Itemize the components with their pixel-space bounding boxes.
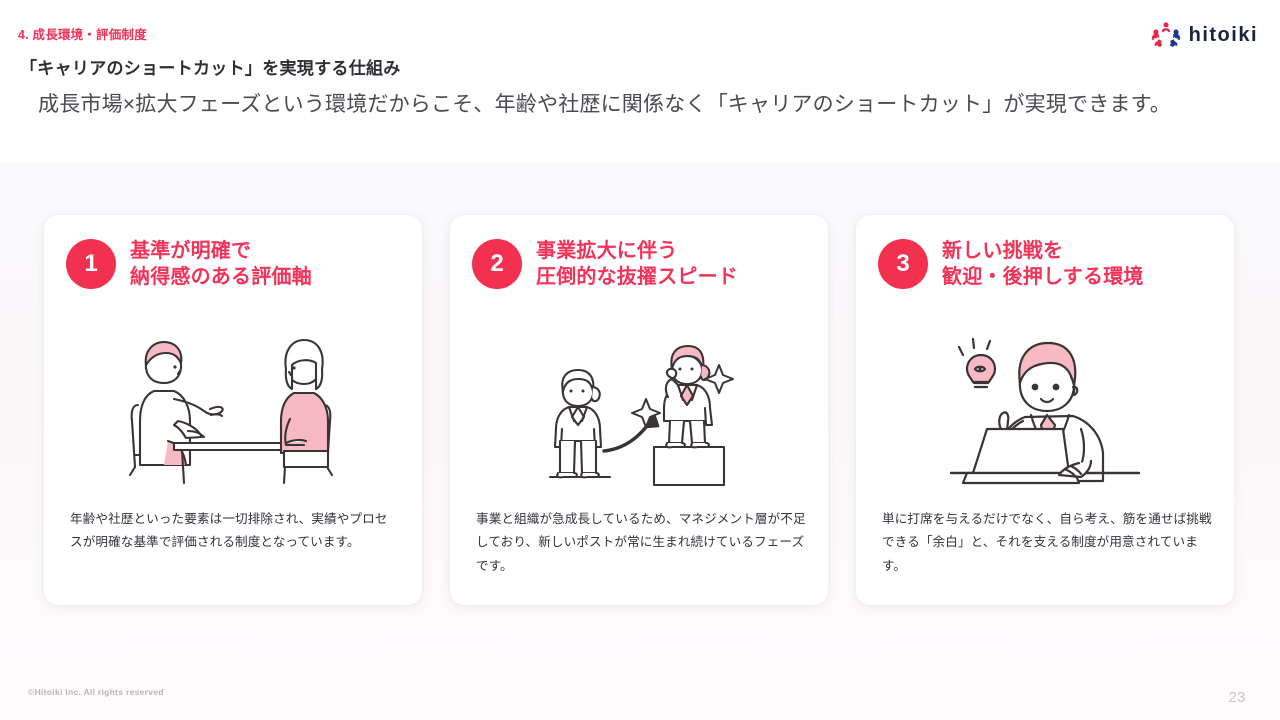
card-3-body: 単に打席を与えるだけでなく、自ら考え、筋を通せば挑戦できる「余白」と、それを支え… (882, 508, 1212, 578)
logo-wordmark: hitoiki (1189, 24, 1258, 47)
card-1-number-badge: 1 (66, 239, 116, 289)
lead-paragraph: 成長市場×拡大フェーズという環境だからこそ、年齢や社歴に関係なく「キャリアのショ… (38, 88, 1266, 122)
slide-header: 4. 成長環境・評価制度 「キャリアのショートカット」を実現する仕組み 成長市場… (0, 0, 1280, 163)
slide: 4. 成長環境・評価制度 「キャリアのショートカット」を実現する仕組み 成長市場… (0, 0, 1280, 720)
card-2-title: 事業拡大に伴う 圧倒的な抜擢スピード (536, 238, 738, 291)
section-label: 4. 成長環境・評価制度 (18, 24, 147, 43)
card-1-illustration (44, 319, 422, 499)
person-promoted-pedestal-arrow-icon (542, 325, 737, 493)
card-3-illustration (856, 319, 1234, 499)
card-1-header: 1 基準が明確で 納得感のある評価軸 (66, 238, 312, 291)
brand-logo: hitoiki (1151, 20, 1258, 50)
people-star-icon (1151, 20, 1181, 50)
card-3-title: 新しい挑戦を 歓迎・後押しする環境 (942, 238, 1144, 291)
card-2-number-badge: 2 (472, 239, 522, 289)
card-1-title: 基準が明確で 納得感のある評価軸 (130, 238, 312, 291)
interview-two-people-table-icon (118, 325, 348, 493)
copyright-notice: ©Hitoiki Inc. All rights reserved (28, 687, 164, 697)
card-2-body: 事業と組織が急成長しているため、マネジメント層が不足しており、新しいポストが常に… (476, 508, 806, 578)
card-3[interactable]: 3 新しい挑戦を 歓迎・後押しする環境 (856, 215, 1234, 605)
slide-body: 1 基準が明確で 納得感のある評価軸 (0, 163, 1280, 720)
card-1[interactable]: 1 基準が明確で 納得感のある評価軸 (44, 215, 422, 605)
card-3-header: 3 新しい挑戦を 歓迎・後押しする環境 (878, 238, 1144, 291)
page-number: 23 (1228, 689, 1246, 706)
card-grid: 1 基準が明確で 納得感のある評価軸 (44, 215, 1236, 605)
card-2-illustration (450, 319, 828, 499)
card-3-number-badge: 3 (878, 239, 928, 289)
person-laptop-idea-lightbulb-icon (943, 325, 1148, 493)
page-title: 「キャリアのショートカット」を実現する仕組み (20, 54, 401, 79)
card-2-header: 2 事業拡大に伴う 圧倒的な抜擢スピード (472, 238, 738, 291)
card-1-body: 年齢や社歴といった要素は一切排除され、実績やプロセスが明確な基準で評価される制度… (70, 508, 400, 555)
card-2[interactable]: 2 事業拡大に伴う 圧倒的な抜擢スピード (450, 215, 828, 605)
